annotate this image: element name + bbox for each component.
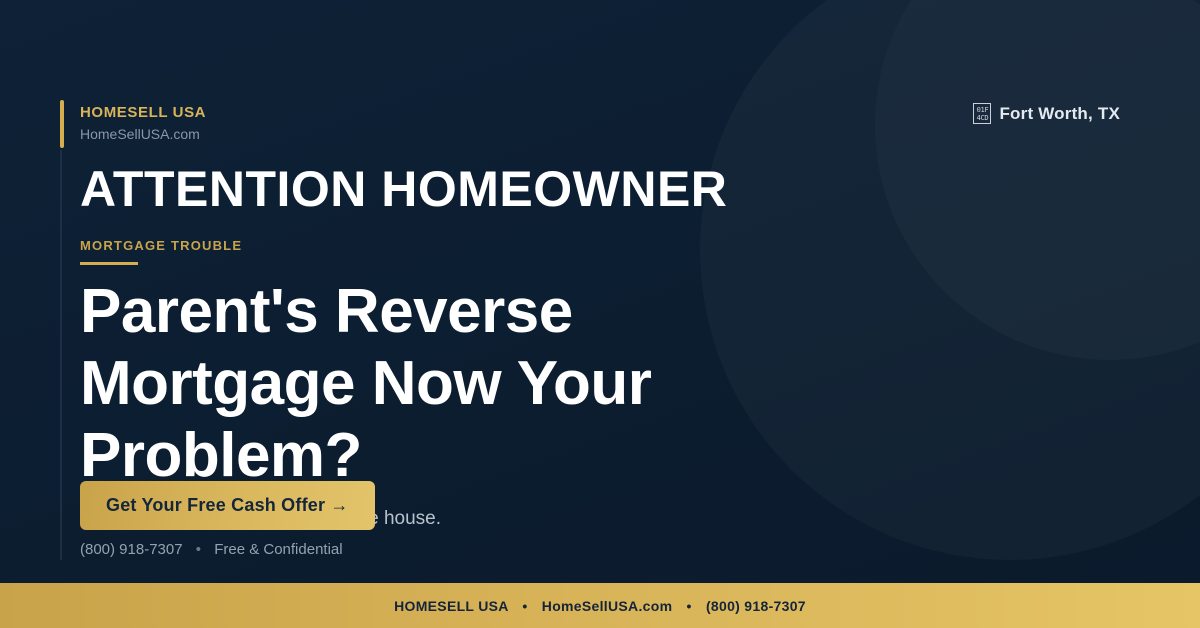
footer-brand: HOMESELL USA: [394, 598, 508, 614]
footer-separator-2: •: [687, 598, 692, 614]
location-badge: 01F 4CD Fort Worth, TX: [973, 103, 1120, 124]
left-accent-bar: [60, 100, 64, 148]
contact-assurance: Free & Confidential: [214, 541, 342, 558]
brand-block: HOMESELL USA HomeSellUSA.com: [80, 104, 206, 142]
contact-separator: •: [196, 541, 201, 558]
brand-name: HOMESELL USA: [80, 104, 206, 121]
footer-phone[interactable]: (800) 918-7307: [706, 598, 806, 614]
footer-separator-1: •: [522, 598, 527, 614]
attention-heading: ATTENTION HOMEOWNER: [80, 160, 727, 218]
pin-icon: 01F 4CD: [973, 103, 991, 124]
contact-phone[interactable]: (800) 918-7307: [80, 541, 183, 558]
brand-website: HomeSellUSA.com: [80, 126, 206, 142]
eyebrow-label: MORTGAGE TROUBLE: [80, 238, 242, 253]
left-vertical-rule: [60, 150, 62, 560]
ad-banner: HOMESELL USA HomeSellUSA.com 01F 4CD For…: [0, 0, 1200, 628]
page-title: Parent's Reverse Mortgage Now Your Probl…: [80, 276, 840, 492]
content-column: HOMESELL USA HomeSellUSA.com 01F 4CD For…: [80, 0, 1120, 583]
footer-content: HOMESELL USA • HomeSellUSA.com • (800) 9…: [394, 598, 806, 614]
contact-line: (800) 918-7307 • Free & Confidential: [80, 541, 343, 558]
eyebrow-underline: [80, 262, 138, 265]
footer-bar: HOMESELL USA • HomeSellUSA.com • (800) 9…: [0, 583, 1200, 628]
footer-website[interactable]: HomeSellUSA.com: [542, 598, 673, 614]
get-free-cash-offer-button[interactable]: Get Your Free Cash Offer →: [80, 481, 375, 530]
location-label: Fort Worth, TX: [999, 104, 1120, 124]
